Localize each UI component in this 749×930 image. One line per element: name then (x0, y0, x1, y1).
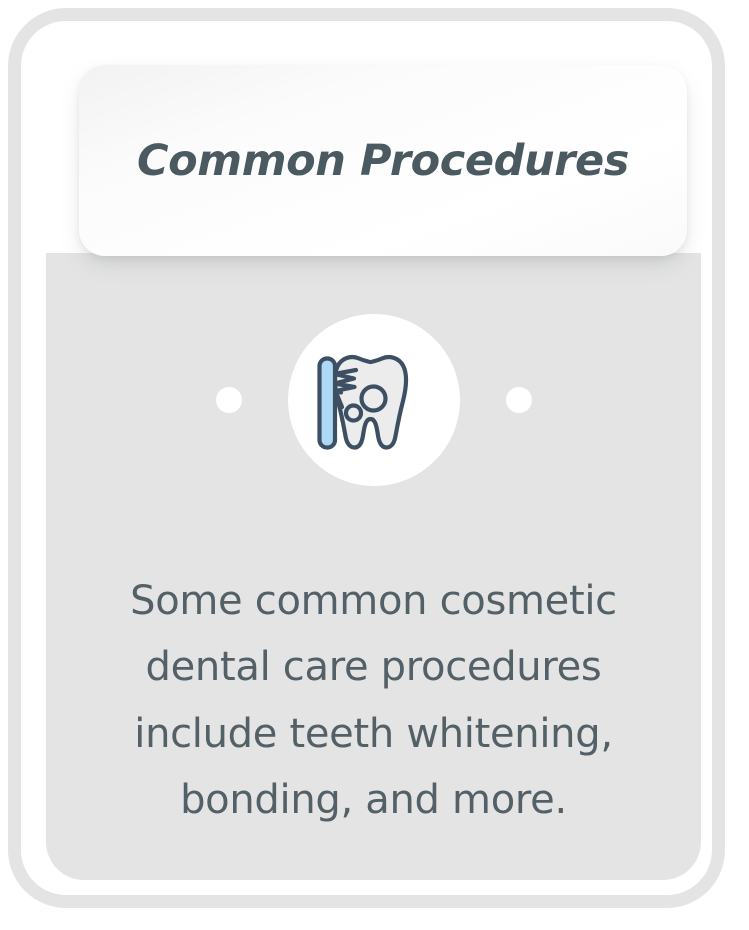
card-body-text-container: Some common cosmetic dental care procedu… (86, 568, 661, 834)
carousel-prev-dot[interactable] (216, 387, 242, 413)
procedure-content-card: Some common cosmetic dental care procedu… (46, 253, 701, 880)
card-description: Some common cosmetic dental care procedu… (86, 568, 661, 834)
carousel-next-dot[interactable] (506, 387, 532, 413)
tooth-toothbrush-icon (315, 345, 433, 455)
card-header: Common Procedures (79, 65, 687, 256)
icon-badge (288, 314, 460, 486)
icon-carousel-row (46, 310, 701, 490)
card-frame-wrapper: Some common cosmetic dental care procedu… (0, 0, 749, 930)
page-title: Common Procedures (137, 136, 629, 186)
